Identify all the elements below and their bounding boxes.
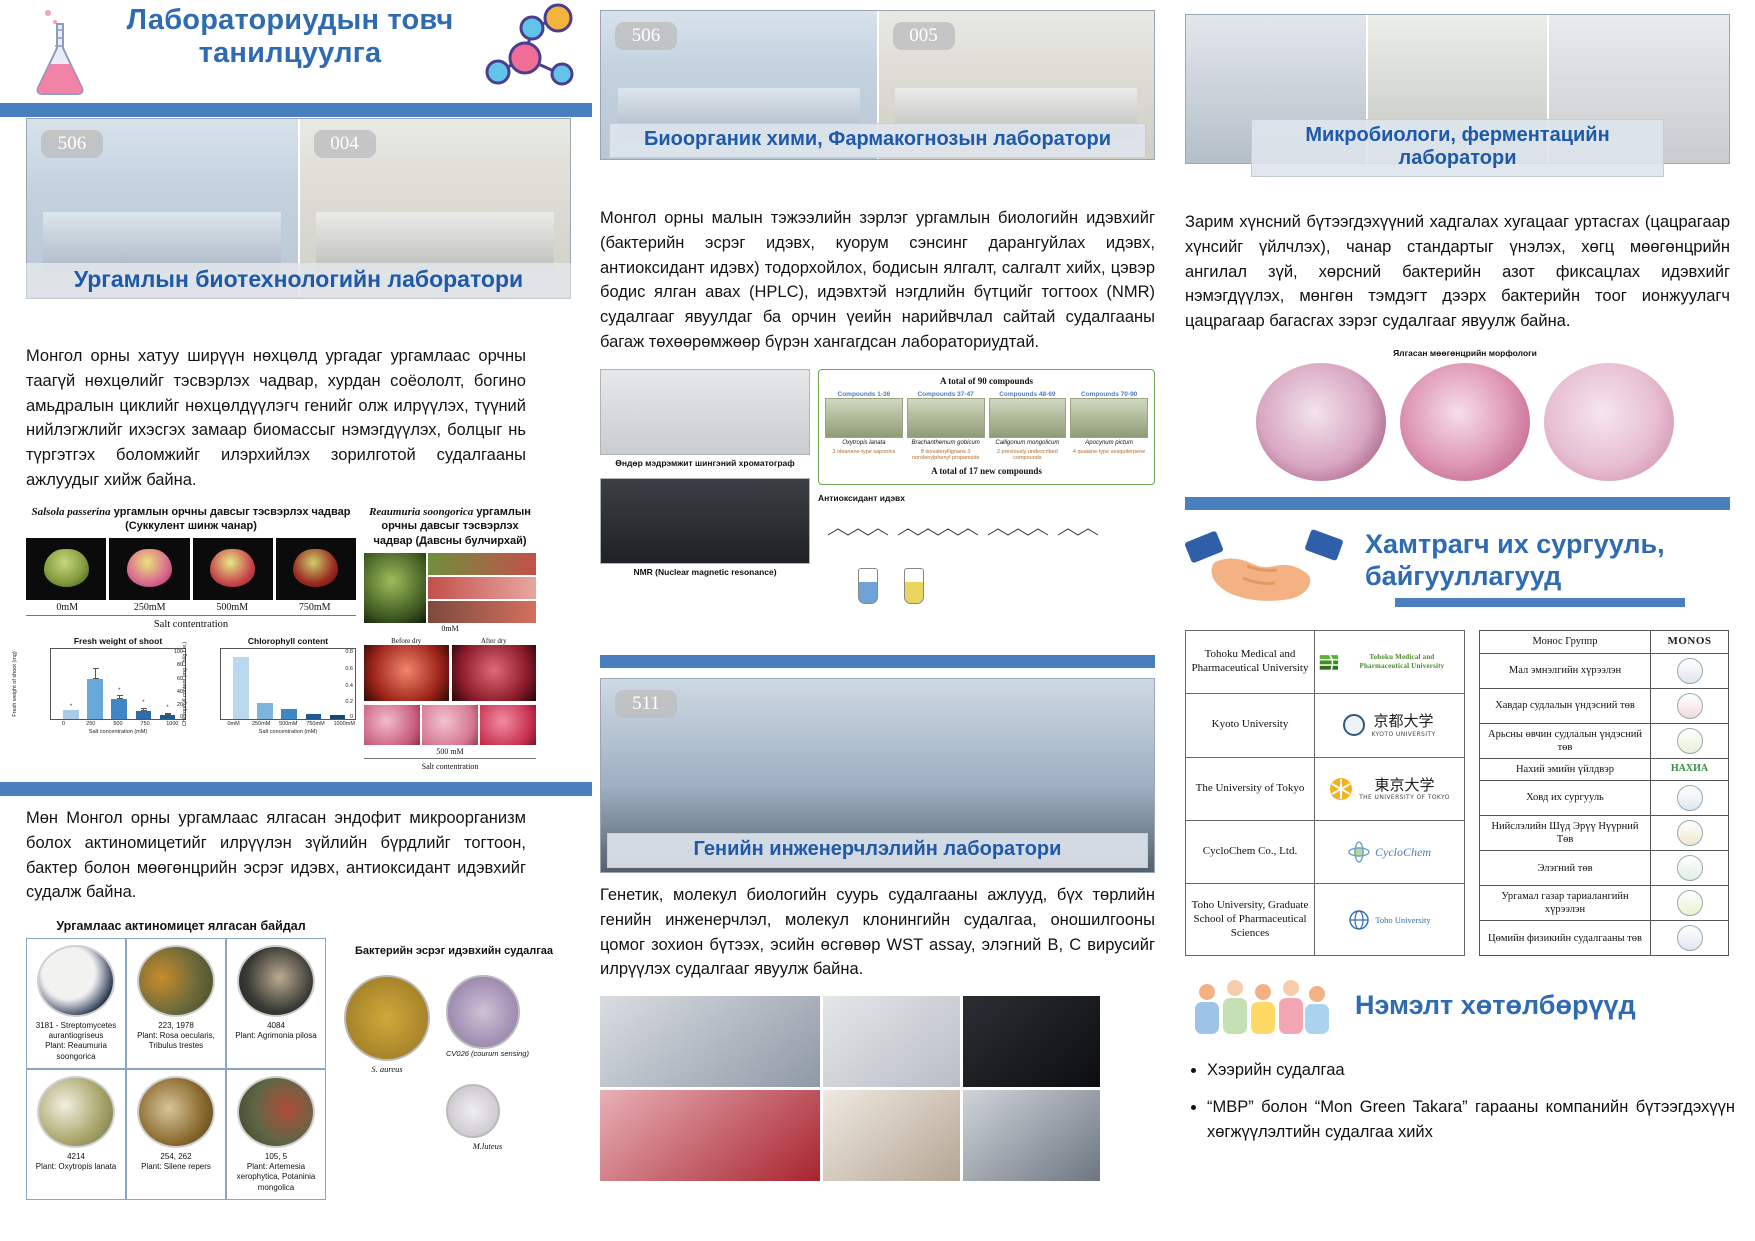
partner-tables: Tohoku Medical and Pharmaceutical Univer…	[1185, 630, 1745, 957]
partners-header: Хамтрагч их сургууль, байгууллагууд	[1185, 526, 1745, 612]
plate-cell: 105, 5 Plant: Artemesia xerophytica, Pot…	[226, 1069, 326, 1200]
table-row: Элэгний төв	[1480, 851, 1729, 886]
tohoku-medical-and-pharmaceutical-university-logo: Tohoku Medical and Pharmaceutical Univer…	[1315, 630, 1465, 693]
partner-name: Tohoku Medical and Pharmaceutical Univer…	[1186, 630, 1315, 693]
table-row: CycloChem Co., Ltd. CycloChem	[1186, 820, 1465, 883]
genetic-engineering-lab-photo: 511 Генийн инженерчлэлийн лаборатори	[600, 678, 1155, 873]
nmr-photo	[600, 478, 810, 564]
antioxidant-label: Антиоксидант идэвх	[818, 493, 1155, 503]
reaumuria-before-dry-photo	[364, 645, 449, 701]
chl-bar-500	[281, 709, 297, 719]
plate-code: 4214	[30, 1152, 122, 1162]
plate-plant: Plant: Silene repers	[130, 1162, 222, 1172]
bioorganic-photo-pair: 506 005 Биоорганик хими, Фармакогнозын л…	[600, 10, 1155, 160]
partner-name: The University of Tokyo	[1186, 757, 1315, 820]
chlorophyll-chart-title: Chlorophyll content	[220, 636, 356, 646]
table-row: Tohoku Medical and Pharmaceutical Univer…	[1186, 630, 1465, 693]
chl-xlabel-500: 500mM	[279, 721, 297, 727]
reaumuria-plant-photo	[364, 553, 426, 623]
partner-name: Монос Группp	[1480, 630, 1651, 653]
cyclochem-mark-icon	[1348, 841, 1370, 863]
kyoto-seal-icon	[1343, 714, 1365, 736]
extra-programs-title: Нэмэлт хөтөлбөрүүд	[1355, 990, 1636, 1021]
compound-desc: 8 isovaleryllignans 3 noroleoylphenyl pr…	[907, 449, 985, 462]
table-row: Нийслэлийн Шүд Эрүү Нүүрний Төв	[1480, 815, 1729, 850]
salsola-sample-labels: 0mM 250mM 500mM 750mM	[26, 602, 356, 616]
middle-column-lower: 511 Генийн инженерчлэлийн лаборатори Ген…	[600, 655, 1155, 1181]
veterinary-institute-logo	[1651, 653, 1729, 688]
bar-750: *	[136, 711, 152, 720]
genetic-lab-gallery	[600, 996, 1100, 1181]
chlorophyll-xlabels: 0mM 250mM 500mM 750mM 1000mM	[220, 721, 356, 727]
petri-dish-icon	[37, 945, 115, 1017]
partner-name: Мал эмнэлгийн хүрээлэн	[1480, 653, 1651, 688]
microbiology-lab-caption: Микробиологи, ферментацийн лаборатори	[1251, 119, 1664, 177]
kyoto-logo-text: 京都大学 KYOTO UNIVERSITY	[1371, 712, 1435, 738]
table-row: Нахий эмийн үйлдвэр НАХИА	[1480, 758, 1729, 780]
partner-name: Kyoto University	[1186, 694, 1315, 757]
fungal-morphology-1	[1256, 363, 1386, 481]
right-divider	[1185, 497, 1730, 510]
gallery-photo-6	[963, 1090, 1100, 1181]
room-tag-506-mid: 506	[615, 22, 677, 50]
label-before-dry: Before dry	[364, 637, 449, 645]
plate-cell: 254, 262 Plant: Silene repers	[126, 1069, 226, 1200]
plate-grid: 3181 - Streptomycetes aurantiogriseus Pl…	[26, 938, 326, 1200]
institute-seal-icon	[1677, 785, 1703, 811]
equipment-column: Өндөр мэдрэмжит шингэний хроматограф NMR…	[600, 369, 810, 604]
vial-yellow-icon	[904, 568, 924, 604]
xlabel-250: 250	[82, 721, 100, 727]
gallery-photo-1	[600, 996, 820, 1087]
bar-1000: *	[160, 715, 176, 720]
partner-name: Toho University, Graduate School of Phar…	[1186, 884, 1315, 956]
antioxidant-vials	[818, 568, 1155, 604]
micrograph-1	[364, 705, 420, 745]
partner-name: Арьсны өвчин судлалын үндэсний төв	[1480, 723, 1651, 758]
compound-species: Oxytropis lanata	[825, 440, 903, 447]
compound-species: Brachanthemum gobicum	[907, 440, 985, 447]
institute-seal-icon	[1677, 693, 1703, 719]
extra-programs-list: Хээрийн судалгаа “MBP” болон “Mon Green …	[1207, 1058, 1745, 1144]
salsola-title-rest: ургамлын орчны давсыг тэсвэрлэх чадвар (…	[111, 506, 351, 533]
xlabel-1000: 1000	[164, 721, 182, 727]
toho-globe-icon	[1348, 909, 1370, 931]
partner-name: Ховд их сургууль	[1480, 780, 1651, 815]
plant-biotech-photo-pair: 506 004 Ургамлын биотехнологийн лаборато…	[26, 118, 571, 298]
chlorophyll-ylabel: Chlorophyll content (mg Chl/g f.w.)	[182, 642, 188, 726]
list-item: Хээрийн судалгаа	[1207, 1058, 1745, 1083]
plate-cell: 223, 1978 Plant: Rosa oecularis, Tribulu…	[126, 938, 226, 1069]
partner-name: Нахий эмийн үйлдвэр	[1480, 758, 1651, 780]
antibacterial-label-mluteus: M.luteus	[446, 1141, 529, 1151]
room-tag-506: 506	[41, 130, 103, 158]
table-row: Toho University, Graduate School of Phar…	[1186, 884, 1465, 956]
reaumuria-detail-2	[428, 577, 536, 599]
chlorophyll-chart: Chlorophyll content Chlorophyll content …	[220, 636, 356, 735]
university-of-tokyo-logo: 東京大学 THE UNIVERSITY OF TOKYO	[1315, 757, 1465, 820]
monos-logo-text: MONOS	[1655, 635, 1724, 649]
plate-code: 105, 5	[230, 1152, 322, 1162]
page-title: Лабораториудын товч танилцуулга	[90, 4, 490, 71]
plate-code: 3181 - Streptomycetes aurantiogriseus	[30, 1021, 122, 1041]
gallery-photo-5	[823, 1090, 960, 1181]
compound-group: Compounds 37-47 Brachanthemum gobicum 8 …	[907, 391, 985, 462]
middle-divider	[600, 655, 1155, 668]
petri-dish-icon	[37, 1076, 115, 1148]
kyoto-university-logo: 京都大学 KYOTO UNIVERSITY	[1315, 694, 1465, 757]
compound-plant-photo	[907, 398, 985, 438]
chl-bar-250	[257, 703, 273, 719]
microbiology-photo-row: Микробиологи, ферментацийн лаборатори	[1185, 14, 1730, 164]
room-tag-004: 004	[314, 130, 376, 158]
actinomycete-plate-block: Ургамлаас актиномицет ялгасан байдал 318…	[26, 919, 336, 1200]
compound-desc: 2 previously undescribed compounds	[989, 449, 1067, 462]
plate-cell: 4084 Plant: Agrimonia pilosa	[226, 938, 326, 1069]
chlorophyll-plot: Chlorophyll content (mg Chl/g f.w.) 0.8 …	[220, 648, 356, 720]
compound-range: Compounds 37-47	[907, 391, 985, 398]
genetic-engineering-paragraph: Генетик, молекул биологийн суурь судалга…	[600, 883, 1155, 982]
salsola-figure-title: Salsola passerina ургамлын орчны давсыг …	[26, 505, 356, 535]
gallery-photo-4	[600, 1090, 820, 1181]
chl-xlabel-250: 250mM	[252, 721, 270, 727]
institute-seal-icon	[1677, 890, 1703, 916]
salsola-sample-row	[26, 538, 356, 600]
actinomycete-figures: Ургамлаас актиномицет ялгасан байдал 318…	[26, 919, 566, 1200]
table-row: Цөмийн физикийн судалгааны төв	[1480, 921, 1729, 956]
partner-name: Элэгний төв	[1480, 851, 1651, 886]
fresh-weight-chart-title: Fresh weight of shoot	[50, 636, 186, 646]
reaumuria-after-dry-photo	[452, 645, 537, 701]
salsola-species-name: Salsola passerina	[32, 506, 111, 518]
fungal-morphology-2	[1400, 363, 1530, 481]
compounds-new-foot: A total of 17 new compounds	[825, 466, 1148, 476]
micrograph-3	[480, 705, 536, 745]
poster-header: Лабораториудын товч танилцуулга	[0, 0, 590, 110]
reaumuria-species-name: Reaumuria soongorica	[369, 506, 473, 518]
kyoto-jp-text: 京都大学	[1373, 712, 1433, 730]
institute-seal-icon	[1677, 658, 1703, 684]
toho-university-logo: Toho University	[1315, 884, 1465, 956]
salsola-sample-750mM	[276, 538, 356, 600]
chl-ytick-0: 0	[350, 714, 353, 720]
genetic-engineering-lab-caption: Генийн инженерчлэлийн лаборатори	[607, 833, 1148, 868]
khovd-university-logo	[1651, 780, 1729, 815]
xlabel-750: 750	[136, 721, 154, 727]
vial-blue-icon	[858, 568, 878, 604]
plant-biotech-lab-caption: Ургамлын биотехнологийн лаборатори	[26, 263, 571, 299]
salt-label-500: 500mM	[191, 602, 274, 613]
antibacterial-label-saureus: S. aureus	[344, 1064, 430, 1074]
fungal-morphology-3	[1544, 363, 1674, 481]
salsola-sample-250mM	[109, 538, 189, 600]
room-tag-511: 511	[615, 690, 677, 718]
plate-plant: Plant: Reaumuria soongorica	[30, 1041, 122, 1061]
plate-code: 4084	[230, 1021, 322, 1031]
agar-plate-icon-2	[446, 1084, 500, 1138]
compound-plant-photo	[825, 398, 903, 438]
chl-bar-0	[233, 657, 249, 720]
chemical-structure-diagram	[818, 505, 1138, 561]
antibacterial-dish-2: CV026 (courum sensing) M.luteus	[446, 975, 529, 1151]
agar-plate-icon	[344, 975, 430, 1061]
table-row: Арьсны өвчин судлалын үндэсний төв	[1480, 723, 1729, 758]
micrograph-2	[422, 705, 478, 745]
compound-species: Calligonum mongolicum	[989, 440, 1067, 447]
plate-plant: Plant: Artemesia xerophytica, Potaninia …	[230, 1162, 322, 1193]
toho-logo-text: Toho University	[1375, 915, 1430, 926]
institute-seal-icon	[1677, 728, 1703, 754]
reaumuria-drydown-images	[364, 645, 536, 701]
table-row: The University of Tokyo 東京大学	[1186, 757, 1465, 820]
institute-seal-icon	[1677, 925, 1703, 951]
monos-group-logo: MONOS	[1651, 630, 1729, 653]
salt-label-250: 250mM	[109, 602, 192, 613]
antibacterial-note-cv026: CV026 (courum sensing)	[446, 1049, 529, 1058]
compound-range: Compounds 70-90	[1070, 391, 1148, 398]
hplc-caption: Өндөр мэдрэмжит шингэний хроматограф	[600, 458, 810, 468]
compound-species: Apocynum pictum	[1070, 440, 1148, 447]
table-row: Хавдар судлалын үндэсний төв	[1480, 688, 1729, 723]
antibacterial-dish-1: S. aureus	[344, 975, 430, 1074]
reaumuria-label-0mM: 0mM	[364, 624, 536, 633]
chl-xlabel-0: 0mM	[225, 721, 243, 727]
bar-0: *	[63, 710, 79, 719]
salsola-figure: Salsola passerina ургамлын орчны давсыг …	[26, 505, 356, 772]
gallery-photo-2	[823, 996, 960, 1087]
room-tag-005: 005	[893, 22, 955, 50]
reaumuria-axis-label: Salt contentration	[364, 762, 536, 771]
middle-column: 506 005 Биоорганик хими, Фармакогнозын л…	[600, 10, 1155, 604]
left-column-lower: Мөн Монгол орны ургамлаас ялгасан эндофи…	[0, 806, 592, 1200]
antibacterial-dishes: S. aureus CV026 (courum sensing) M.luteu…	[344, 975, 564, 1151]
list-item: “MBP” болон “Mon Green Takara” гарааны к…	[1207, 1095, 1745, 1145]
partner-name: Ургамал газар тариалангийн хүрээлэн	[1480, 886, 1651, 921]
microbiology-paragraph: Зарим хүнсний бүтээгдэхүүний хадгалах ху…	[1185, 210, 1730, 334]
petri-dish-icon	[137, 1076, 215, 1148]
fresh-weight-bars: * * * *	[59, 653, 180, 719]
bioorganic-lab-caption: Биоорганик хими, Фармакогнозын лаборатор…	[609, 123, 1146, 158]
fresh-weight-xlabels: 0 250 500 750 1000	[50, 721, 186, 727]
international-partners-table: Tohoku Medical and Pharmaceutical Univer…	[1185, 630, 1465, 957]
partner-name: Хавдар судлалын үндэсний төв	[1480, 688, 1651, 723]
agar-plate-icon	[446, 975, 520, 1049]
handshake-icon	[1185, 528, 1345, 608]
nahia-logo-text: НАХИА	[1655, 763, 1724, 776]
tohoku-logo-text: Tohoku Medical and Pharmaceutical Univer…	[1344, 653, 1460, 671]
partners-underline	[1395, 598, 1685, 607]
left-column: 506 004 Ургамлын биотехнологийн лаборато…	[0, 118, 592, 771]
plate-plant: Plant: Oxytropis lanata	[30, 1162, 122, 1172]
todai-logo-text: 東京大学 THE UNIVERSITY OF TOKYO	[1359, 776, 1450, 802]
partner-name: Цөмийн физикийн судалгааны төв	[1480, 921, 1651, 956]
liver-center-logo	[1651, 851, 1729, 886]
bioorganic-equipment-figures: Өндөр мэдрэмжит шингэний хроматограф NMR…	[600, 369, 1155, 604]
table-row: Мал эмнэлгийн хүрээлэн	[1480, 653, 1729, 688]
plant-agriculture-institute-logo	[1651, 886, 1729, 921]
petri-dish-icon	[237, 1076, 315, 1148]
chl-xlabel-1000: 1000mM	[334, 721, 352, 727]
header-divider-left	[0, 103, 592, 117]
cyclochem-logo: CycloChem	[1315, 820, 1465, 883]
petri-dish-icon	[237, 945, 315, 1017]
partners-title: Хамтрагч их сургууль, байгууллагууд	[1365, 528, 1725, 593]
national-cancer-center-logo	[1651, 688, 1729, 723]
bar-250	[87, 679, 103, 719]
chlorophyll-bars	[229, 653, 350, 719]
xlabel-500: 500	[109, 721, 127, 727]
chl-xlabel-750: 750mM	[306, 721, 324, 727]
cyclochem-logo-text: CycloChem	[1375, 845, 1431, 860]
compound-desc: 4 quaiane-type sesquiterpene	[1070, 449, 1148, 456]
compound-range: Compounds 1-36	[825, 391, 903, 398]
poster-page: Лабораториудын товч танилцуулга 506 004 …	[0, 0, 1755, 1241]
compounds-total-head: A total of 90 compounds	[825, 376, 1148, 386]
compound-plant-photo	[1070, 398, 1148, 438]
salsola-sample-0mM	[26, 538, 106, 600]
partner-name: Нийслэлийн Шүд Эрүү Нүүрний Төв	[1480, 815, 1651, 850]
reaumuria-figure-title: Reaumuria soongorica ургамлын орчны давс…	[364, 505, 536, 550]
compound-range: Compounds 48-69	[989, 391, 1067, 398]
reaumuria-detail-strip	[428, 553, 536, 623]
reaumuria-drydown-labels: Before dry After dry	[364, 637, 536, 645]
extra-programs-header: Нэмэлт хөтөлбөрүүд	[1185, 978, 1745, 1044]
antibacterial-title: Бактерийн эсрэг идэвхийн судалгаа	[344, 945, 564, 957]
institute-seal-icon	[1677, 855, 1703, 881]
reaumuria-top-images	[364, 553, 536, 623]
label-after-dry: After dry	[452, 637, 537, 645]
fresh-weight-chart: Fresh weight of shoot Fresh weight of sh…	[50, 636, 186, 735]
reaumuria-detail-1	[428, 553, 536, 575]
compound-plant-photo	[989, 398, 1067, 438]
compound-group: Compounds 70-90 Apocynum pictum 4 quaian…	[1070, 391, 1148, 462]
reaumuria-micrographs	[364, 705, 536, 745]
table-row: Ховд их сургууль	[1480, 780, 1729, 815]
salsola-sample-500mM	[193, 538, 273, 600]
gallery-photo-3	[963, 996, 1100, 1087]
nuclear-physics-research-center-logo	[1651, 921, 1729, 956]
salt-label-0: 0mM	[26, 602, 109, 613]
left-divider-2	[0, 782, 592, 796]
compound-desc: 3 oleanane-type saponins	[825, 449, 903, 456]
bioorganic-paragraph: Монгол орны малын тэжээлийн зэрлэг ургам…	[600, 206, 1155, 355]
petri-dish-icon	[137, 945, 215, 1017]
compounds-column: A total of 90 compounds Compounds 1-36 O…	[818, 369, 1155, 604]
plate-cell: 3181 - Streptomycetes aurantiogriseus Pl…	[26, 938, 126, 1069]
right-column: Микробиологи, ферментацийн лаборатори За…	[1185, 14, 1745, 1157]
antibacterial-block: Бактерийн эсрэг идэвхийн судалгаа S. aur…	[344, 945, 564, 1151]
salsola-axis-label: Salt contentration	[26, 619, 356, 630]
plates-title: Ургамлаас актиномицет ялгасан байдал	[26, 919, 336, 933]
plate-cell: 4214 Plant: Oxytropis lanata	[26, 1069, 126, 1200]
fresh-weight-ylabel: Fresh weight of shoot (mg)	[12, 651, 18, 716]
table-row: Kyoto University 京都大学 KYOTO UNIVERSITY	[1186, 694, 1465, 757]
xlabel-0: 0	[55, 721, 73, 727]
hplc-photo	[600, 369, 810, 455]
todai-ginkgo-icon	[1329, 777, 1353, 801]
dental-center-logo	[1651, 815, 1729, 850]
salsola-charts: Fresh weight of shoot Fresh weight of sh…	[26, 636, 356, 735]
plate-code: 254, 262	[130, 1152, 222, 1162]
compound-group: Compounds 1-36 Oxytropis lanata 3 oleana…	[825, 391, 903, 462]
todai-en-text: THE UNIVERSITY OF TOKYO	[1359, 794, 1450, 802]
kyoto-en-text: KYOTO UNIVERSITY	[1371, 731, 1435, 739]
chlorophyll-xaxis-title: Salt concentration (mM)	[220, 729, 356, 735]
tohoku-mark-icon	[1319, 651, 1339, 673]
table-row: Монос Группp MONOS	[1480, 630, 1729, 653]
salt-label-750: 750mM	[274, 602, 357, 613]
salt-tolerance-figure-group: Salsola passerina ургамлын орчны давсыг …	[26, 505, 541, 772]
nahia-logo: НАХИА	[1651, 758, 1729, 780]
reaumuria-detail-3	[428, 601, 536, 623]
morphology-title: Ялгасан мөөгөнцрийн морфологи	[1185, 348, 1745, 358]
plate-plant: Plant: Agrimonia pilosa	[230, 1031, 322, 1041]
fresh-weight-xaxis-title: Salt concentration (mM)	[50, 729, 186, 735]
bar-500: *	[111, 699, 127, 719]
nmr-caption: NMR (Nuclear magnetic resonance)	[600, 567, 810, 577]
plate-plant: Plant: Rosa oecularis, Tribulus trestes	[130, 1031, 222, 1051]
morphology-images	[1185, 363, 1745, 481]
people-group-icon	[1185, 978, 1335, 1040]
reaumuria-label-500mM: 500 mM	[364, 747, 536, 759]
molecule-icon	[470, 0, 585, 105]
partner-name: CycloChem Co., Ltd.	[1186, 820, 1315, 883]
compounds-panel: A total of 90 compounds Compounds 1-36 O…	[818, 369, 1155, 485]
dermatology-center-logo	[1651, 723, 1729, 758]
compound-group: Compounds 48-69 Calligonum mongolicum 2 …	[989, 391, 1067, 462]
fresh-weight-plot: Fresh weight of shoot (mg) 100 80 60 40 …	[50, 648, 186, 720]
mongolian-partners-table: Монос Группp MONOS Мал эмнэлгийн хүрээлэ…	[1479, 630, 1729, 957]
plant-biotech-paragraph: Монгол орны хатуу ширүүн нөхцөлд ургадаг…	[26, 344, 526, 493]
reaumuria-figure: Reaumuria soongorica ургамлын орчны давс…	[364, 505, 536, 772]
institute-seal-icon	[1677, 820, 1703, 846]
table-row: Ургамал газар тариалангийн хүрээлэн	[1480, 886, 1729, 921]
compounds-row: Compounds 1-36 Oxytropis lanata 3 oleana…	[825, 391, 1148, 462]
plate-code: 223, 1978	[130, 1021, 222, 1031]
chl-bar-750	[306, 714, 322, 719]
chl-bar-1000	[330, 715, 346, 719]
todai-jp-text: 東京大学	[1374, 776, 1434, 794]
actinomycete-paragraph: Мөн Монгол орны ургамлаас ялгасан эндофи…	[26, 806, 526, 905]
